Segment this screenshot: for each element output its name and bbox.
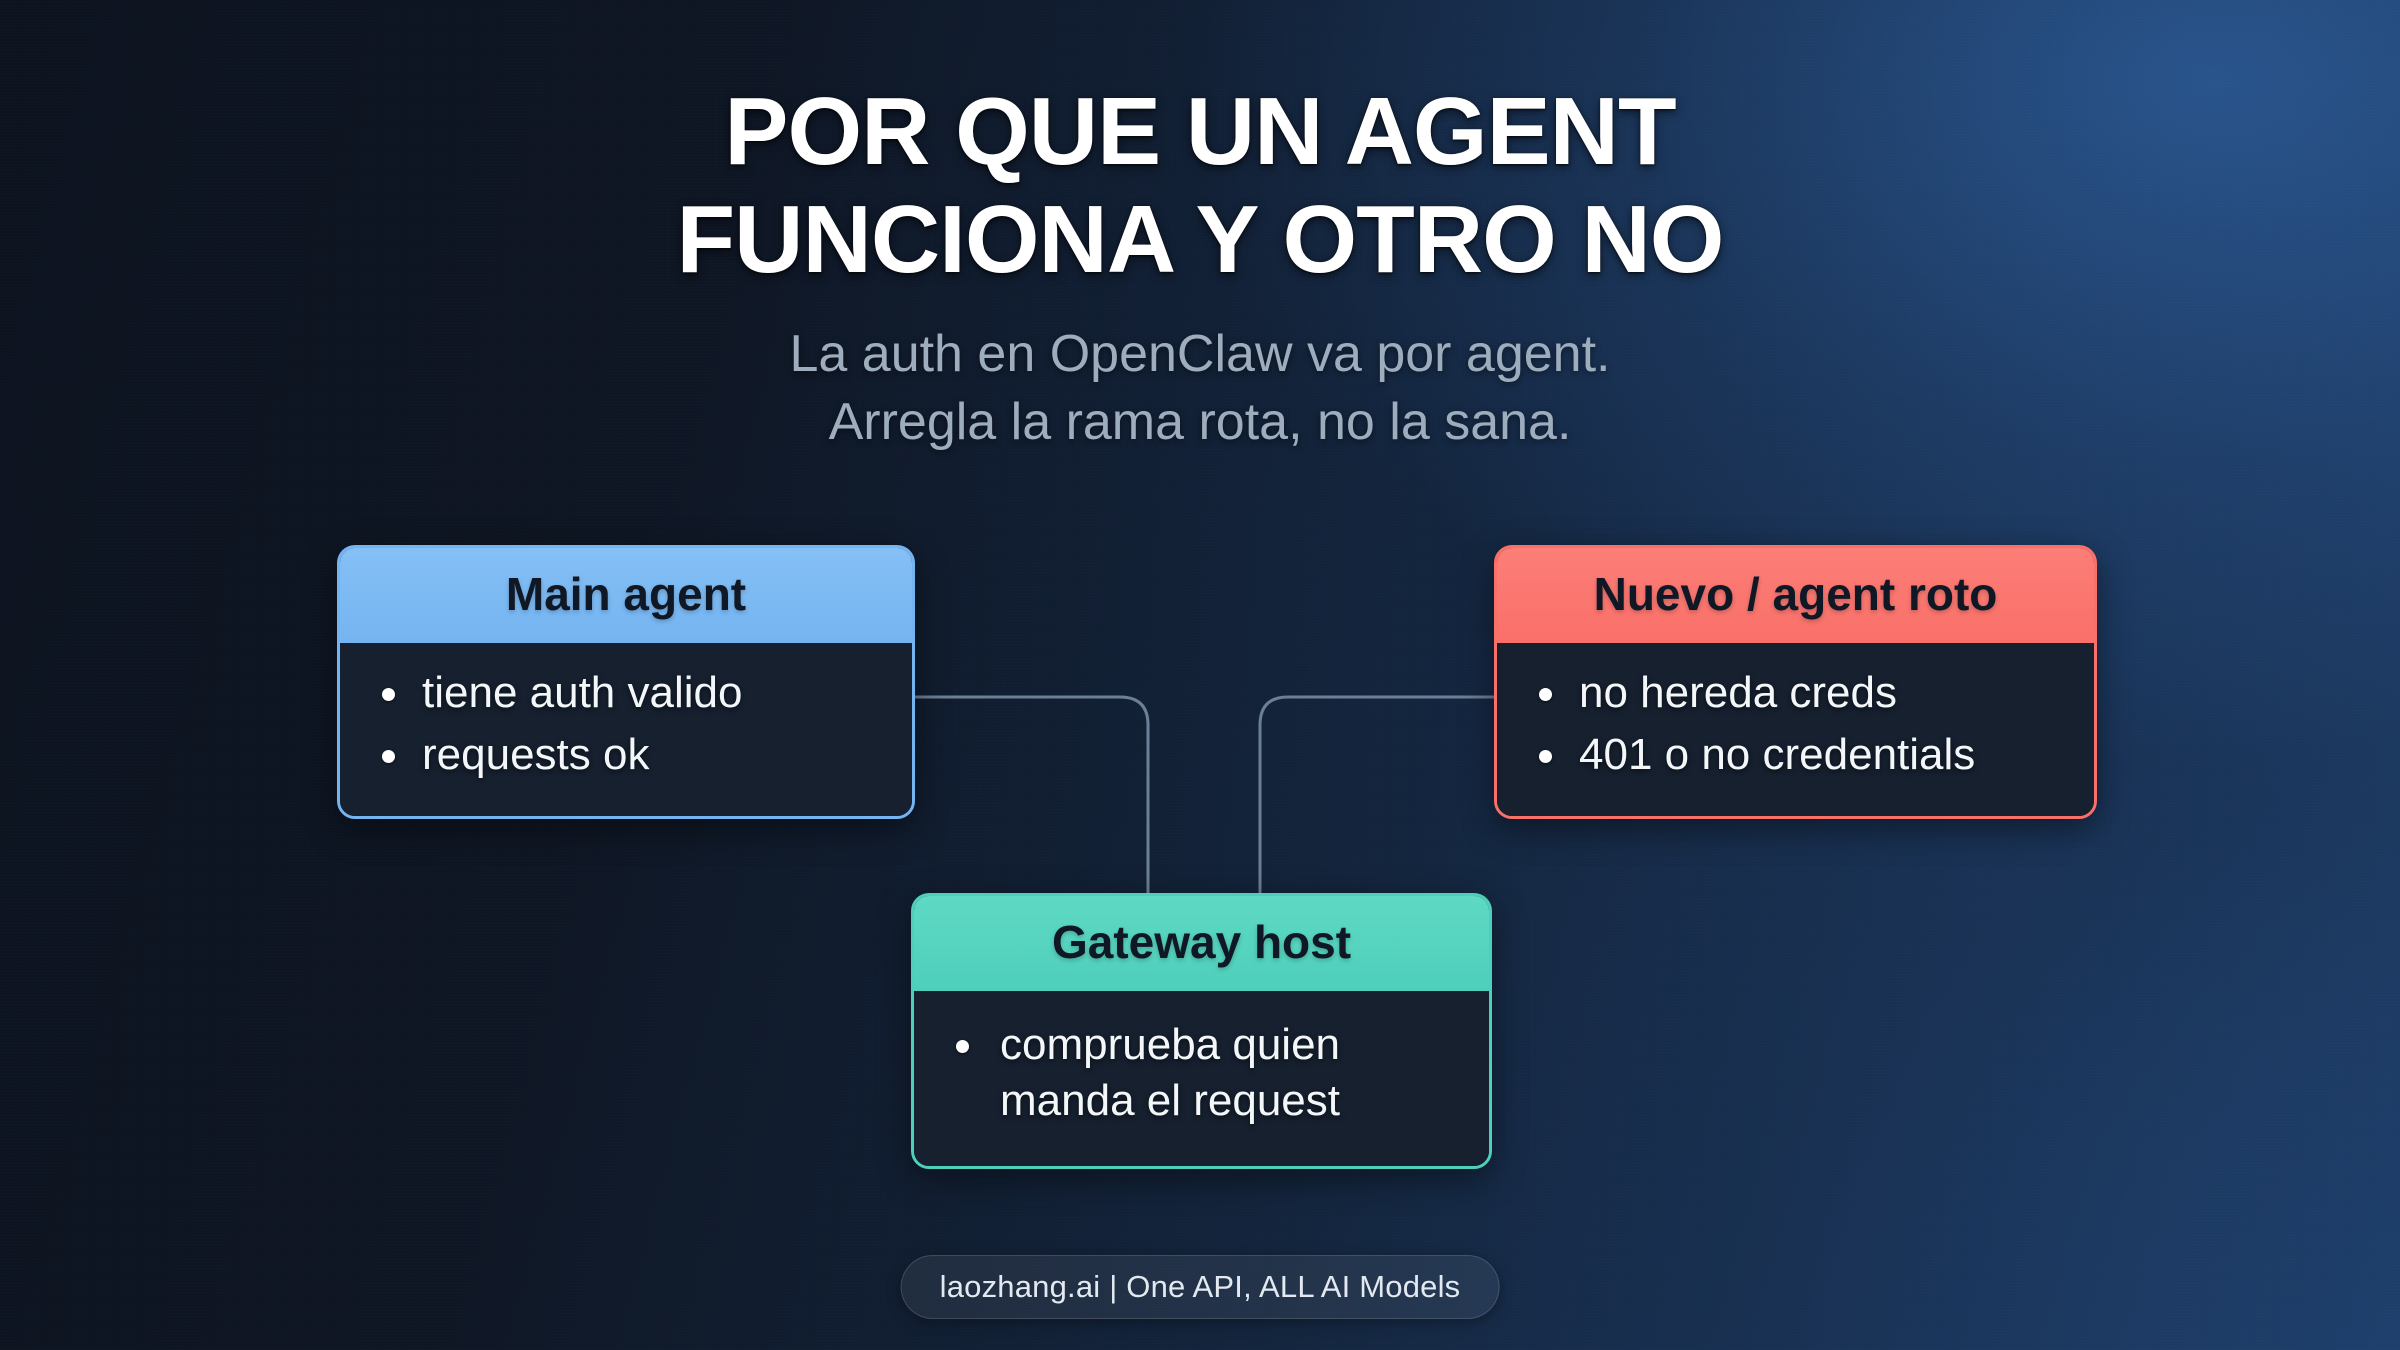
list-item: 401 o no credentials xyxy=(1531,727,2068,783)
card-gateway-host-bullets: comprueba quien manda el request xyxy=(948,1017,1463,1130)
card-gateway-host-title: Gateway host xyxy=(914,896,1489,991)
card-broken-agent-title: Nuevo / agent roto xyxy=(1497,548,2094,643)
footer-brand-badge: laozhang.ai | One API, ALL AI Models xyxy=(901,1255,1500,1319)
header-block: POR QUE UN AGENT FUNCIONA Y OTRO NO La a… xyxy=(0,78,2400,456)
card-main-agent-title: Main agent xyxy=(340,548,912,643)
card-broken-agent-bullets: no hereda creds 401 o no credentials xyxy=(1531,665,2068,784)
list-item: no hereda creds xyxy=(1531,665,2068,721)
card-gateway-host[interactable]: Gateway host comprueba quien manda el re… xyxy=(911,893,1492,1169)
card-main-agent-body: tiene auth valido requests ok xyxy=(340,643,912,816)
slide-canvas: POR QUE UN AGENT FUNCIONA Y OTRO NO La a… xyxy=(0,0,2400,1350)
connector-main-to-gateway xyxy=(915,697,1148,893)
card-gateway-host-body: comprueba quien manda el request xyxy=(914,991,1489,1166)
connector-broken-to-gateway xyxy=(1260,697,1494,893)
card-main-agent[interactable]: Main agent tiene auth valido requests ok xyxy=(337,545,915,819)
list-item: requests ok xyxy=(374,727,886,783)
page-subtitle: La auth en OpenClaw va por agent. Arregl… xyxy=(0,321,2400,456)
list-item: tiene auth valido xyxy=(374,665,886,721)
page-title: POR QUE UN AGENT FUNCIONA Y OTRO NO xyxy=(0,78,2400,295)
card-broken-agent-body: no hereda creds 401 o no credentials xyxy=(1497,643,2094,816)
card-broken-agent[interactable]: Nuevo / agent roto no hereda creds 401 o… xyxy=(1494,545,2097,819)
card-main-agent-bullets: tiene auth valido requests ok xyxy=(374,665,886,784)
list-item: comprueba quien manda el request xyxy=(948,1017,1463,1130)
